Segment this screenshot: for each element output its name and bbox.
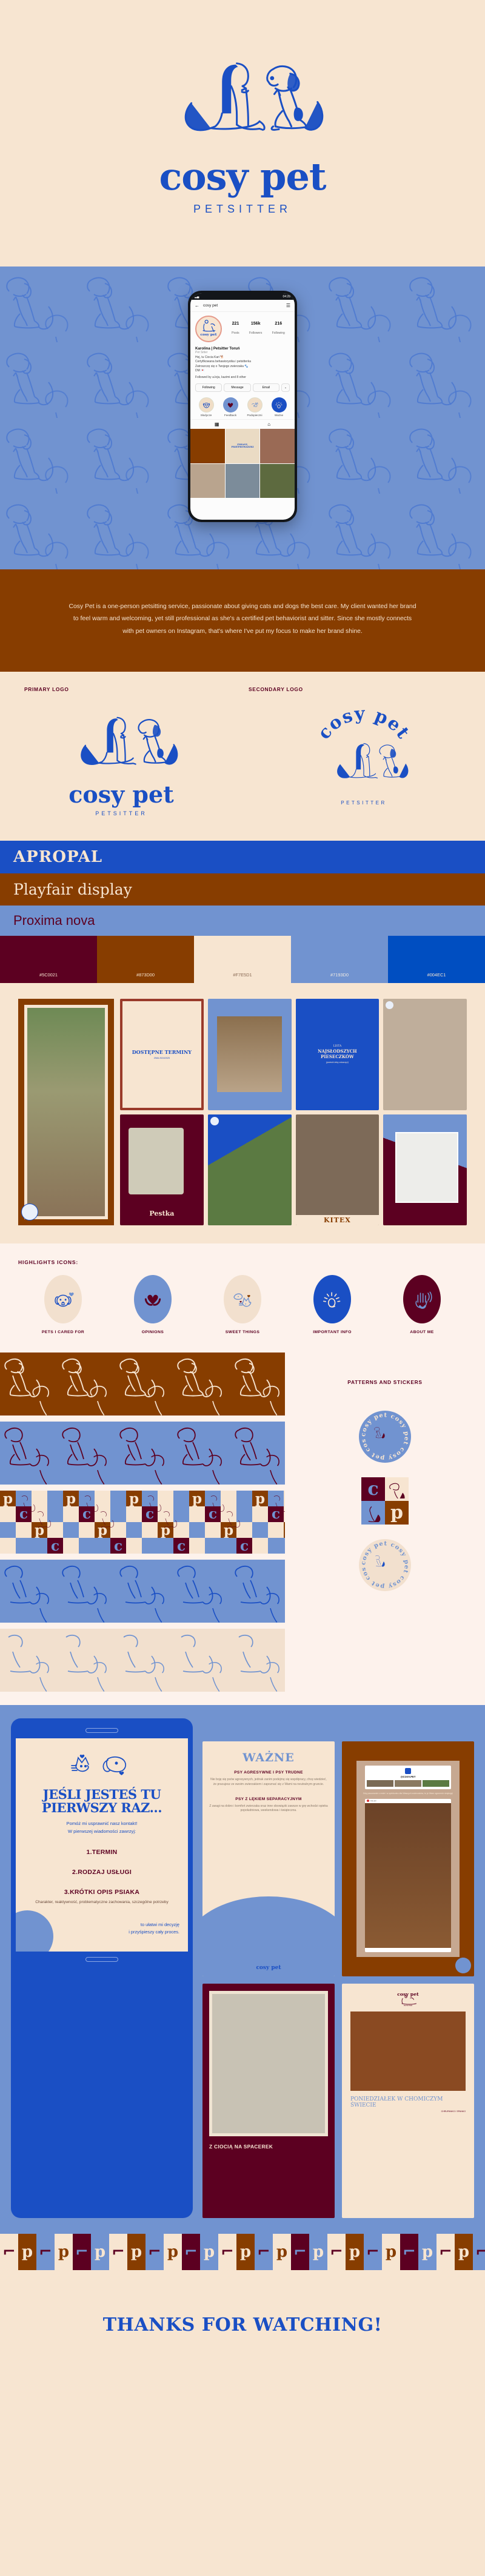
story-paragraph-1: Nie boję się psów agresywnych, jednak za…: [209, 1778, 328, 1787]
post-dog-photo-3[interactable]: [208, 1114, 292, 1226]
bio-line-3: Zatroszczę się o Twojego zwierzaka 🐾: [195, 365, 290, 369]
typeface-proxima-nova: Proxima nova: [0, 906, 485, 936]
cosy-pet-logo-illustration: [152, 51, 333, 161]
profile-bio: Karolina | Petsitter Toruń Pet Sitter He…: [190, 346, 295, 380]
stat-value: 156k: [249, 322, 262, 326]
highlight-about-me[interactable]: ABOUT ME: [389, 1275, 455, 1334]
quad-letter-c: c: [361, 1477, 385, 1501]
patterns-section-title: PATTERNS AND STICKERS: [285, 1379, 485, 1385]
profile-display-name: Karolina | Petsitter Toruń: [195, 346, 290, 351]
cosy-pet-mini-logo-icon: cosy pet PETSITTER: [392, 1991, 424, 2007]
post-dog-photo-1[interactable]: [208, 999, 292, 1110]
primary-logo-illustration: [58, 708, 185, 787]
story-spacerek[interactable]: Z CIOCIĄ NA SPACEREK: [202, 1984, 335, 2219]
instagram-phone-mockup-section: ▂▄ 04:28 ← cosy pet ☰: [0, 267, 485, 569]
bio-line-1: Hej, tu Ciocia Kari 🐕: [195, 356, 290, 360]
pattern-strip-cream: [0, 1629, 285, 1692]
pattern-strip-blue: [0, 1560, 285, 1623]
story-wazne[interactable]: WAŻNE PSY AGRESYWNE I PSY TRUDNE Nie boj…: [202, 1741, 335, 1976]
round-sticker-cream: cosy pet cosy pet cosy pet cosy pet: [359, 1539, 411, 1591]
story-heading: PONIEDZIAŁEK W CHOMICZYM ŚWIECIE: [350, 2096, 466, 2110]
story-handle: @COSY.PET: [367, 1775, 449, 1778]
cat-and-dog-icon: [224, 1275, 261, 1323]
highlight-sweet-things[interactable]: SWEET THINGS: [209, 1275, 276, 1334]
story-heading-2: PSY Z LĘKIEM SEPARACYJNYM: [209, 1797, 328, 1801]
post-thumb[interactable]: [260, 429, 295, 463]
swatch-cream: #F7E5D1: [194, 936, 291, 983]
secondary-logo-label: SECONDARY LOGO: [249, 686, 303, 692]
highlight-caption: IMPORTANT INFO: [299, 1330, 366, 1334]
post-dog-photo-4[interactable]: [383, 1114, 467, 1226]
mockups-section: JEŚLI JESTEŚ TU PIERWSZY RAZ... Pomóż mi…: [0, 1705, 485, 2234]
stat-label: Followers: [249, 331, 262, 335]
dog-face-icon: [44, 1275, 82, 1323]
story-paragraph-2: Z uwagi na dobro i komfort zwierzaka ora…: [209, 1804, 328, 1814]
primary-logo-block: PRIMARY LOGO: [0, 686, 242, 816]
dog-face-icon: [199, 397, 214, 412]
quad-dog-silhouette-icon: [361, 1501, 385, 1525]
post-subtitle: ZIMA 2024/2025: [154, 1057, 170, 1059]
tablet-intro-1: Pomóż mi usprawnić nasz kontakt!: [24, 1820, 179, 1827]
profile-post-grid: ZMIANY,PRZEPROWADZKI: [190, 429, 295, 498]
double-heart-icon: [134, 1275, 172, 1323]
svg-text:PETSITTER: PETSITTER: [404, 2004, 412, 2007]
highlight-opinions[interactable]: OPINIONS: [119, 1275, 186, 1334]
tablet-device: JEŚLI JESTEŚ TU PIERWSZY RAZ... Pomóż mi…: [11, 1718, 193, 2218]
post-title: KITEX: [296, 1215, 380, 1225]
post-dog-photo-2[interactable]: [383, 999, 467, 1110]
highlight-caption: SWEET THINGS: [209, 1330, 276, 1334]
typeface-name: Proxima nova: [13, 913, 472, 929]
tablet-screen: JEŚLI JESTEŚ TU PIERWSZY RAZ... Pomóż mi…: [16, 1738, 188, 1952]
logo-badge-icon: [210, 1117, 219, 1125]
tablet-home-button[interactable]: [85, 1957, 118, 1962]
swatch-maroon: #5C0021: [0, 936, 97, 983]
quad-dog-icon: [385, 1477, 409, 1501]
highlights-row: PETS I CARED FOR OPINIONS: [18, 1275, 467, 1334]
stat-posts: 221 Posts: [232, 322, 239, 337]
message-button[interactable]: Message: [224, 383, 250, 392]
post-thumb[interactable]: [190, 429, 225, 463]
secondary-logo-tagline: PETSITTER: [341, 800, 387, 806]
grid-view-icon[interactable]: ▦: [215, 422, 219, 427]
typeface-name: APROPAL: [13, 848, 472, 866]
thanks-text: THANKS FOR WATCHING!: [103, 2314, 383, 2336]
hamburger-menu-icon[interactable]: ☰: [286, 303, 290, 308]
avatar-logo-icon: cosy pet: [198, 319, 219, 339]
story-sticker-badge: [455, 1958, 471, 1973]
highlight-label: Feedback: [221, 414, 239, 417]
post-thumb[interactable]: ZMIANY,PRZEPROWADZKI: [226, 429, 260, 463]
shining-paw-icon: [313, 1275, 351, 1323]
portfolio-page: cosy pet PETSITTER: [0, 0, 485, 2379]
profile-stats: 221 Posts 156k Followers 216 Following: [227, 322, 290, 337]
post-lista-najslodszych[interactable]: LISTA NAJSŁODSZYCHPIESECZKÓW (przewiń że…: [296, 999, 380, 1110]
bio-line-4: DM 💌: [195, 369, 290, 374]
secondary-logo-illustration: cosy pet: [300, 708, 427, 799]
cp-unit: ⌐ p ⌐ p ⌐ p ⌐ p ⌐ p ⌐ p ⌐ p ⌐ p ⌐ p ⌐ p …: [0, 2234, 485, 2270]
profile-tabs: ▦ ⌂: [190, 419, 295, 429]
pattern-strip-brown: [0, 1353, 285, 1415]
tablet-heading: JEŚLI JESTEŚ TU PIERWSZY RAZ...: [24, 1788, 179, 1815]
tagged-view-icon[interactable]: ⌂: [267, 422, 270, 427]
stat-value: 216: [272, 322, 285, 326]
story-heading-1: PSY AGRESYWNE I PSY TRUDNE: [209, 1770, 328, 1775]
tablet-step-3-detail: Charakter, reaktywność, problematyczne z…: [24, 1899, 179, 1906]
following-button[interactable]: Following: [195, 383, 222, 392]
tablet-step-3: 3.KRÓTKI OPIS PSIAKA: [24, 1889, 179, 1896]
primary-logo-tagline: PETSITTER: [95, 810, 147, 816]
tablet-corner-sticker: [16, 1910, 53, 1952]
pattern-strips: p c p c: [0, 1353, 285, 1692]
pattern-strip-checker-cp: p c p c: [0, 1491, 285, 1554]
double-heart-icon: [223, 397, 238, 412]
highlight-slodycze[interactable]: Słodycze: [197, 397, 215, 417]
post-grid: DOSTĘPNE TERMINY ZIMA 2024/2025 LISTA NA…: [120, 999, 467, 1225]
cosy-pet-sticker-badge: [21, 1204, 38, 1220]
phone-device: ▂▄ 04:28 ← cosy pet ☰: [188, 291, 297, 522]
story-subheading: CHRUPANKO I SPANKO: [441, 2110, 466, 2113]
hero-section: cosy pet PETSITTER: [0, 0, 485, 267]
post-title: DOSTĘPNE TERMINY: [132, 1049, 192, 1055]
instagram-grid-section: DOSTĘPNE TERMINY ZIMA 2024/2025 LISTA NA…: [0, 983, 485, 1243]
typography-section: APROPAL Playfair display Proxima nova: [0, 841, 485, 936]
pattern-strip-lightblue-maroon: [0, 1422, 285, 1485]
post-thumb[interactable]: [190, 464, 225, 498]
highlight-feedback[interactable]: Feedback: [221, 397, 239, 417]
paw-badge-icon: [386, 1001, 393, 1009]
story-highlights-row: Słodycze Feedback Podopieczni: [190, 395, 295, 418]
instagram-shop-icon: [405, 1768, 411, 1774]
highlights-icons-section: HIGHLIGHTS ICONS: PETS I C: [0, 1243, 485, 1353]
typeface-name: Playfair display: [13, 881, 472, 898]
svg-text:cosy pet: cosy pet: [313, 708, 414, 743]
phone-status-bar: ▂▄ 04:28: [190, 293, 295, 300]
stat-followers[interactable]: 156k Followers: [249, 322, 262, 337]
avatar[interactable]: cosy pet: [195, 316, 222, 342]
typeface-apropal: APROPAL: [0, 841, 485, 873]
story-title: WAŻNE: [209, 1751, 328, 1764]
secondary-logo-block: SECONDARY LOGO cosy pet: [242, 686, 485, 816]
highlight-caption: PETS I CARED FOR: [30, 1330, 96, 1334]
project-description: Cosy Pet is a one-person petsitting serv…: [0, 569, 485, 672]
highlight-podopieczni[interactable]: Podopieczni: [246, 397, 264, 417]
highlight-caption: ABOUT ME: [389, 1330, 455, 1334]
post-title: Pestka: [120, 1210, 204, 1217]
highlights-section-title: HIGHLIGHTS ICONS:: [18, 1259, 467, 1265]
quad-letter-p: p: [385, 1501, 409, 1525]
feature-post[interactable]: [18, 999, 114, 1225]
waving-hand-icon: [403, 1275, 441, 1323]
highlight-pets-i-cared-for[interactable]: PETS I CARED FOR: [30, 1275, 96, 1334]
stat-value: 221: [232, 322, 239, 326]
highlight-label: Podopieczni: [246, 414, 264, 417]
profile-action-buttons: Following Message Email ⌄: [190, 380, 295, 395]
hero-wordmark: cosy pet: [159, 158, 326, 196]
story-repost-caption: Gdy pasowanie o mnie i a opiekunku dla W…: [363, 1792, 453, 1795]
bio-line-2: Certyfikowana behawiorystka i petsitterk…: [195, 360, 290, 365]
highlight-label: Słodycze: [197, 414, 215, 417]
post-dostepne-terminy[interactable]: DOSTĘPNE TERMINY ZIMA 2024/2025: [120, 999, 204, 1110]
story-caption: Z CIOCIĄ NA SPACEREK: [209, 2144, 328, 2150]
shining-paw-icon: [272, 397, 287, 412]
post-thumb[interactable]: [260, 464, 295, 498]
swatch-light-blue: #7193D0: [291, 936, 388, 983]
post-pestka[interactable]: Pestka: [120, 1114, 204, 1226]
cat-and-dog-icon: [247, 397, 263, 412]
story-chomik[interactable]: cosy pet PETSITTER PONIEDZIAŁEK W CHOMIC…: [342, 1984, 474, 2219]
stickers-column: PATTERNS AND STICKERS cosy pet cosy pet …: [285, 1353, 485, 1692]
svg-text:cosy pet: cosy pet: [200, 333, 216, 337]
story-logo-text: cosy pet: [202, 1965, 335, 1971]
email-button[interactable]: Email: [253, 383, 279, 392]
signal-icon: ▂▄: [195, 295, 199, 299]
stat-following[interactable]: 216 Following: [272, 322, 285, 337]
instagram-top-bar: ← cosy pet ☰: [190, 300, 295, 312]
highlight-label: Ważne: [270, 414, 288, 417]
profile-category: Pet Sitter: [195, 351, 290, 356]
cp-letter-border-strip: ⌐ p ⌐ p ⌐ p ⌐ p ⌐ p ⌐ p ⌐ p ⌐ p ⌐ p ⌐ p …: [0, 2234, 485, 2270]
tablet-step-1: 1.TERMIN: [24, 1849, 179, 1856]
post-subtitle: (przewiń żeby zobaczyć): [326, 1061, 349, 1064]
tablet-speaker: [85, 1728, 118, 1733]
highlight-wazne[interactable]: Ważne: [270, 397, 288, 417]
secondary-logo-wordmark: cosy pet: [313, 708, 414, 743]
swatch-brown: #873D00: [97, 936, 194, 983]
stat-label: Posts: [232, 331, 239, 335]
cat-and-dog-line-icon: [65, 1750, 138, 1780]
color-palette: #5C0021 #873D00 #F7E5D1 #7193D0 #004EC1: [0, 936, 485, 983]
quad-sticker-cp: c p: [361, 1477, 409, 1525]
highlight-important-info[interactable]: IMPORTANT INFO: [299, 1275, 366, 1334]
status-time: 04:28: [283, 295, 290, 299]
story-repost[interactable]: @COSY.PET Gdy pasowanie o mnie i a opiek…: [342, 1741, 474, 1976]
highlight-caption: OPINIONS: [119, 1330, 186, 1334]
primary-logo-wordmark: cosy pet: [69, 783, 174, 806]
tablet-step-2: 2.RODZAJ USŁUGI: [24, 1869, 179, 1876]
tablet-intro-2: W pierwszej wiadomości zawrzyj:: [24, 1828, 179, 1835]
followed-by-text: Followed by a.krja, kazimi and 8 other: [195, 376, 290, 380]
post-kitex[interactable]: KITEX: [296, 1114, 380, 1226]
thanks-section: THANKS FOR WATCHING!: [0, 2270, 485, 2379]
svg-text:cosy pet: cosy pet: [397, 1992, 419, 1997]
round-sticker-cosy-pet: cosy pet cosy pet cosy pet cosy pet: [359, 1411, 411, 1463]
hero-tagline: PETSITTER: [193, 203, 292, 216]
phone-screen: ▂▄ 04:28 ← cosy pet ☰: [190, 293, 295, 520]
primary-logo-label: PRIMARY LOGO: [24, 686, 69, 692]
profile-handle: cosy pet: [203, 303, 283, 308]
typeface-playfair-display: Playfair display: [0, 873, 485, 906]
patterns-and-stickers-section: p c p c: [0, 1353, 485, 1705]
logo-variants-section: PRIMARY LOGO: [0, 672, 485, 841]
swatch-blue: #004EC1: [388, 936, 485, 983]
back-arrow-icon[interactable]: ←: [195, 303, 199, 308]
profile-header: cosy pet 221 Posts 156k Followers: [190, 312, 295, 346]
story-mockups: WAŻNE PSY AGRESYWNE I PSY TRUDNE Nie boj…: [202, 1718, 474, 2218]
more-options-chevron-icon[interactable]: ⌄: [281, 383, 290, 392]
post-thumb[interactable]: [226, 464, 260, 498]
stat-label: Following: [272, 331, 285, 335]
